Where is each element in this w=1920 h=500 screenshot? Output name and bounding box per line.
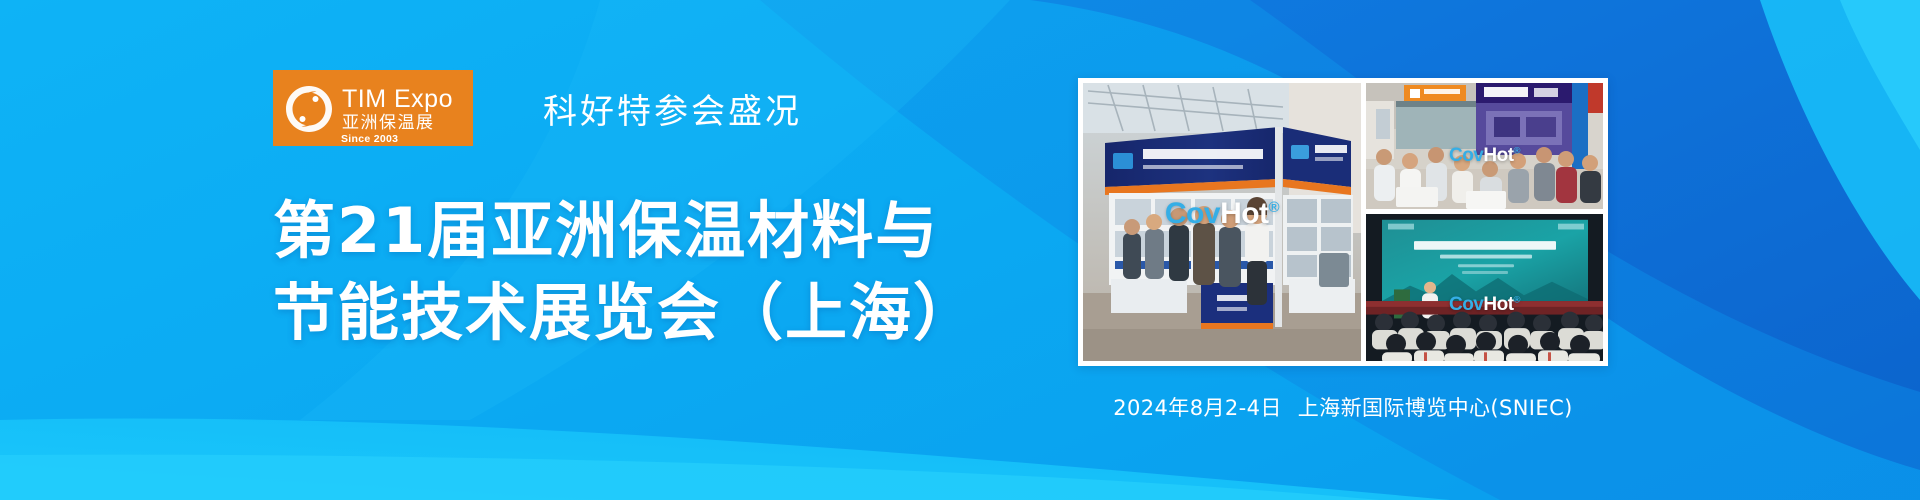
event-date-venue: 2024年8月2-4日上海新国际博览中心(SNIEC) bbox=[1078, 392, 1608, 422]
logo-chinese-name: 亚洲保温展 bbox=[342, 115, 453, 132]
page-title: 第21届亚洲保温材料与 节能技术展览会（上海） bbox=[273, 190, 977, 354]
exhibition-promo-banner: TIM Expo 亚洲保温展 Since 2003 科好特参会盛况 第21届亚洲… bbox=[0, 0, 1920, 500]
tim-expo-swirl-icon bbox=[283, 83, 335, 135]
photo-collage[interactable]: CovHot® bbox=[1078, 78, 1608, 366]
photo-booth-main[interactable]: CovHot® bbox=[1083, 83, 1361, 361]
headline-line-2: 节能技术展览会（上海） bbox=[273, 272, 977, 354]
logo-text-lockup: TIM Expo 亚洲保温展 bbox=[342, 87, 453, 132]
headline-line-1: 第21届亚洲保温材料与 bbox=[273, 190, 977, 272]
photo-forum-bottom-right[interactable]: CovHot® bbox=[1366, 214, 1603, 361]
left-content-column: TIM Expo 亚洲保温展 Since 2003 科好特参会盛况 第21届亚洲… bbox=[0, 0, 1080, 500]
eyebrow-text: 科好特参会盛况 bbox=[543, 84, 802, 133]
event-date: 2024年8月2-4日 bbox=[1113, 396, 1282, 420]
tim-expo-logo[interactable]: TIM Expo 亚洲保温展 Since 2003 bbox=[273, 70, 473, 146]
logo-and-eyebrow-row: TIM Expo 亚洲保温展 Since 2003 科好特参会盛况 bbox=[273, 70, 802, 146]
event-venue: 上海新国际博览中心(SNIEC) bbox=[1298, 396, 1573, 420]
logo-since-text: Since 2003 bbox=[341, 133, 398, 145]
photo-right-column: CovHot® bbox=[1366, 83, 1603, 361]
logo-english-name: TIM Expo bbox=[342, 87, 453, 112]
photo-aisle-top-right[interactable]: CovHot® bbox=[1366, 83, 1603, 209]
